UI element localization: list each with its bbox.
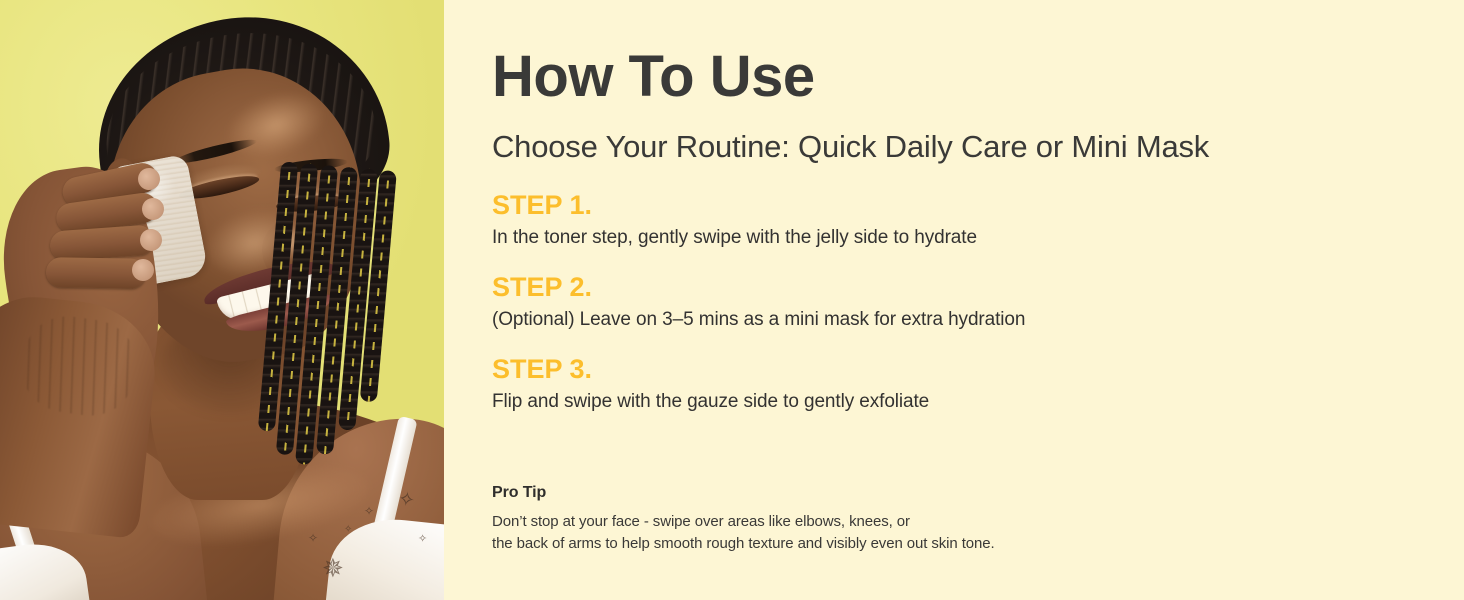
pro-tip-body: Don’t stop at your face - swipe over are… <box>492 511 1272 555</box>
star-tattoo-icon: ✧ <box>308 532 318 544</box>
step-3-text: Flip and swipe with the gauze side to ge… <box>492 390 1392 415</box>
pro-tip-title: Pro Tip <box>492 484 1272 502</box>
step-1-label: STEP 1. <box>492 190 1392 220</box>
step-2-text: (Optional) Leave on 3–5 mins as a mini m… <box>492 308 1392 333</box>
star-tattoo-icon: ✧ <box>418 534 427 545</box>
pro-tip-section: Pro Tip Don’t stop at your face - swipe … <box>492 484 1272 555</box>
finger <box>46 257 147 289</box>
product-usage-photo: ✧ ✧ ✧ ✧ ✵ ✧ <box>0 0 444 600</box>
step-item-3: STEP 3. Flip and swipe with the gauze si… <box>492 354 1392 415</box>
page-subtitle: Choose Your Routine: Quick Daily Care or… <box>492 130 1209 164</box>
steps-list: STEP 1. In the toner step, gently swipe … <box>492 190 1392 436</box>
star-tattoo-icon: ✧ <box>364 505 374 517</box>
step-item-2: STEP 2. (Optional) Leave on 3–5 mins as … <box>492 272 1392 333</box>
pro-tip-line-2: the back of arms to help smooth rough te… <box>492 533 1272 555</box>
step-1-text: In the toner step, gently swipe with the… <box>492 226 1392 251</box>
star-tattoo-icon: ✵ <box>322 555 344 581</box>
star-tattoo-icon: ✧ <box>396 489 416 512</box>
braid-group <box>255 161 403 470</box>
pro-tip-line-1: Don’t stop at your face - swipe over are… <box>492 511 1272 533</box>
how-to-use-banner: ✧ ✧ ✧ ✧ ✵ ✧ <box>0 0 1464 600</box>
star-tattoo-icon: ✧ <box>344 525 352 535</box>
instructions-panel: How To Use Choose Your Routine: Quick Da… <box>444 0 1464 600</box>
step-2-label: STEP 2. <box>492 272 1392 302</box>
page-title: How To Use <box>492 47 815 106</box>
step-3-label: STEP 3. <box>492 354 1392 384</box>
step-item-1: STEP 1. In the toner step, gently swipe … <box>492 190 1392 251</box>
